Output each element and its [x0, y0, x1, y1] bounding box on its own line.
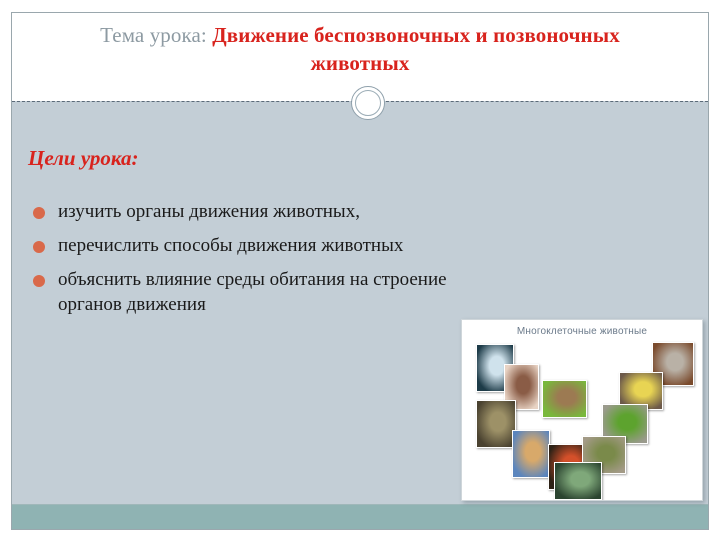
presentation-slide: Тема урока: Движение беспозвоночных и по… [11, 12, 709, 530]
bullet-dot-icon [33, 241, 45, 253]
list-item-label: перечислить способы движения животных [58, 235, 403, 256]
bullet-dot-icon [33, 207, 45, 219]
list-item: перечислить способы движения животных [28, 233, 448, 258]
collage-photo-snail [542, 380, 587, 418]
slide-title-prefix: Тема урока: [100, 23, 207, 47]
slide-title: Тема урока: Движение беспозвоночных и по… [12, 21, 708, 77]
list-item: объяснить влияние среды обитания на стро… [28, 267, 448, 317]
list-item-label: изучить органы движения животных, [58, 201, 360, 222]
goals-heading: Цели урока: [28, 146, 139, 171]
collage-title: Многоклеточные животные [462, 326, 702, 337]
ring-ornament-icon [351, 86, 385, 120]
animal-collage-image: Многоклеточные животные [461, 319, 703, 501]
collage-photo-fish [554, 462, 602, 500]
list-item-label: объяснить влияние среды обитания на стро… [58, 269, 447, 315]
goals-list: изучить органы движения животных, перечи… [28, 199, 448, 326]
collage-photo-crayfish [476, 400, 516, 448]
collage-photo-spider [512, 430, 550, 478]
list-item: изучить органы движения животных, [28, 199, 448, 224]
bullet-dot-icon [33, 275, 45, 287]
slide-footer-bar [12, 504, 708, 529]
slide-title-main: Движение беспозвоночных и позвоночных жи… [212, 23, 620, 75]
